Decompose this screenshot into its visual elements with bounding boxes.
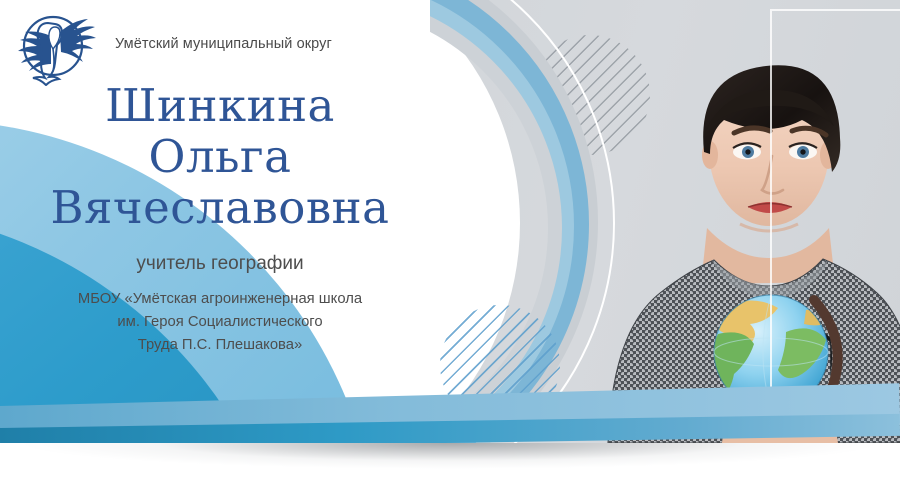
school-line-1: МБОУ «Умётская агроинженерная школа (0, 288, 440, 311)
slide-canvas: Умётский муниципальный округ Шинкина Оль… (0, 0, 900, 443)
person-role: учитель географии (0, 253, 440, 275)
school-name: МБОУ «Умётская агроинженерная школа им. … (0, 288, 440, 357)
organization-name: Умётский муниципальный округ (115, 36, 332, 52)
person-patronymic: Вячеславовна (0, 182, 440, 233)
page-title: Шинкина Ольга Вячеславовна (0, 80, 440, 233)
slide-drop-shadow (0, 443, 900, 500)
school-line-3: Труда П.С. Плешакова» (0, 334, 440, 357)
portrait-photo (600, 0, 900, 443)
person-surname: Шинкина (0, 80, 440, 131)
person-first-name: Ольга (0, 131, 440, 182)
school-line-2: им. Героя Социалистического (0, 311, 440, 334)
photo-panel (430, 0, 900, 443)
text-column: Умётский муниципальный округ Шинкина Оль… (0, 0, 440, 443)
pelican-emblem-icon (10, 8, 96, 86)
panel-left-cutout (430, 0, 520, 443)
